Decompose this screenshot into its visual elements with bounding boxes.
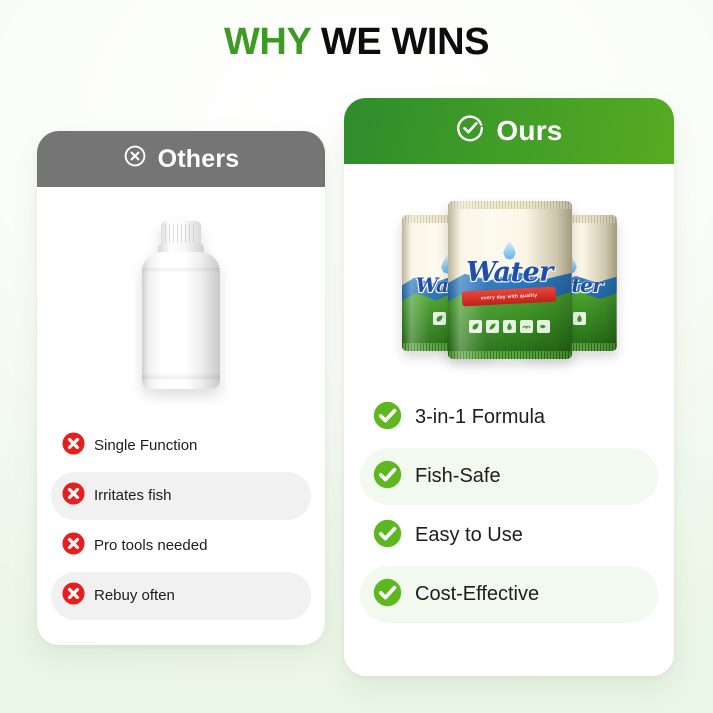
list-item: Fish-Safe bbox=[360, 448, 658, 505]
ours-card: Ours Water bbox=[344, 98, 674, 676]
circle-x-icon bbox=[123, 144, 147, 175]
leaf-icon bbox=[469, 320, 482, 333]
others-card: Others Single Function bbox=[37, 131, 325, 645]
pouch-brand-text: Water bbox=[448, 259, 572, 286]
red-x-icon bbox=[61, 531, 86, 561]
ours-card-title: Ours bbox=[496, 117, 562, 145]
circle-check-icon bbox=[455, 113, 485, 150]
wave-icon bbox=[520, 320, 533, 333]
sprout-icon bbox=[486, 320, 499, 333]
ours-card-header: Ours bbox=[344, 98, 674, 164]
others-feature-list: Single Function Irritates fish bbox=[37, 422, 325, 645]
others-card-header: Others bbox=[37, 131, 325, 187]
drop-icon bbox=[573, 312, 586, 325]
comparison-infographic: WHY WE WINS Others bbox=[0, 0, 713, 713]
others-card-title: Others bbox=[158, 147, 240, 172]
list-item: Pro tools needed bbox=[51, 522, 311, 570]
green-check-icon bbox=[372, 400, 403, 436]
red-x-icon bbox=[61, 431, 86, 461]
title-highlight: WHY bbox=[224, 21, 311, 63]
list-item: Single Function bbox=[51, 422, 311, 470]
list-item-label: Easy to Use bbox=[415, 524, 523, 547]
green-check-icon bbox=[372, 577, 403, 613]
leaf-icon bbox=[433, 312, 446, 325]
water-pouch-pack-icon: Water bbox=[402, 193, 617, 361]
page-title: WHY WE WINS bbox=[0, 23, 713, 61]
list-item: Irritates fish bbox=[51, 472, 311, 520]
list-item-label: Rebuy often bbox=[94, 587, 175, 604]
red-x-icon bbox=[61, 481, 86, 511]
ours-product-image: Water bbox=[344, 164, 674, 389]
list-item-label: Fish-Safe bbox=[415, 465, 501, 488]
others-product-image bbox=[37, 187, 325, 422]
red-x-icon bbox=[61, 581, 86, 611]
drop-icon bbox=[503, 320, 516, 333]
list-item-label: Irritates fish bbox=[94, 487, 172, 504]
list-item: Easy to Use bbox=[360, 507, 658, 564]
pouch-ribbon-text: every day with quality bbox=[481, 292, 538, 301]
white-bottle-icon bbox=[142, 221, 220, 389]
title-rest: WE WINS bbox=[311, 21, 489, 63]
green-check-icon bbox=[372, 518, 403, 554]
fish-icon bbox=[537, 320, 550, 333]
list-item: Cost-Effective bbox=[360, 566, 658, 623]
list-item: Rebuy often bbox=[51, 572, 311, 620]
list-item-label: Cost-Effective bbox=[415, 583, 539, 606]
ours-feature-list: 3-in-1 Formula Fish-Safe bbox=[344, 389, 674, 676]
pouch-front: Water every day with quality bbox=[448, 201, 572, 359]
list-item-label: Single Function bbox=[94, 437, 197, 454]
list-item-label: 3-in-1 Formula bbox=[415, 406, 545, 429]
green-check-icon bbox=[372, 459, 403, 495]
list-item: 3-in-1 Formula bbox=[360, 389, 658, 446]
list-item-label: Pro tools needed bbox=[94, 537, 207, 554]
